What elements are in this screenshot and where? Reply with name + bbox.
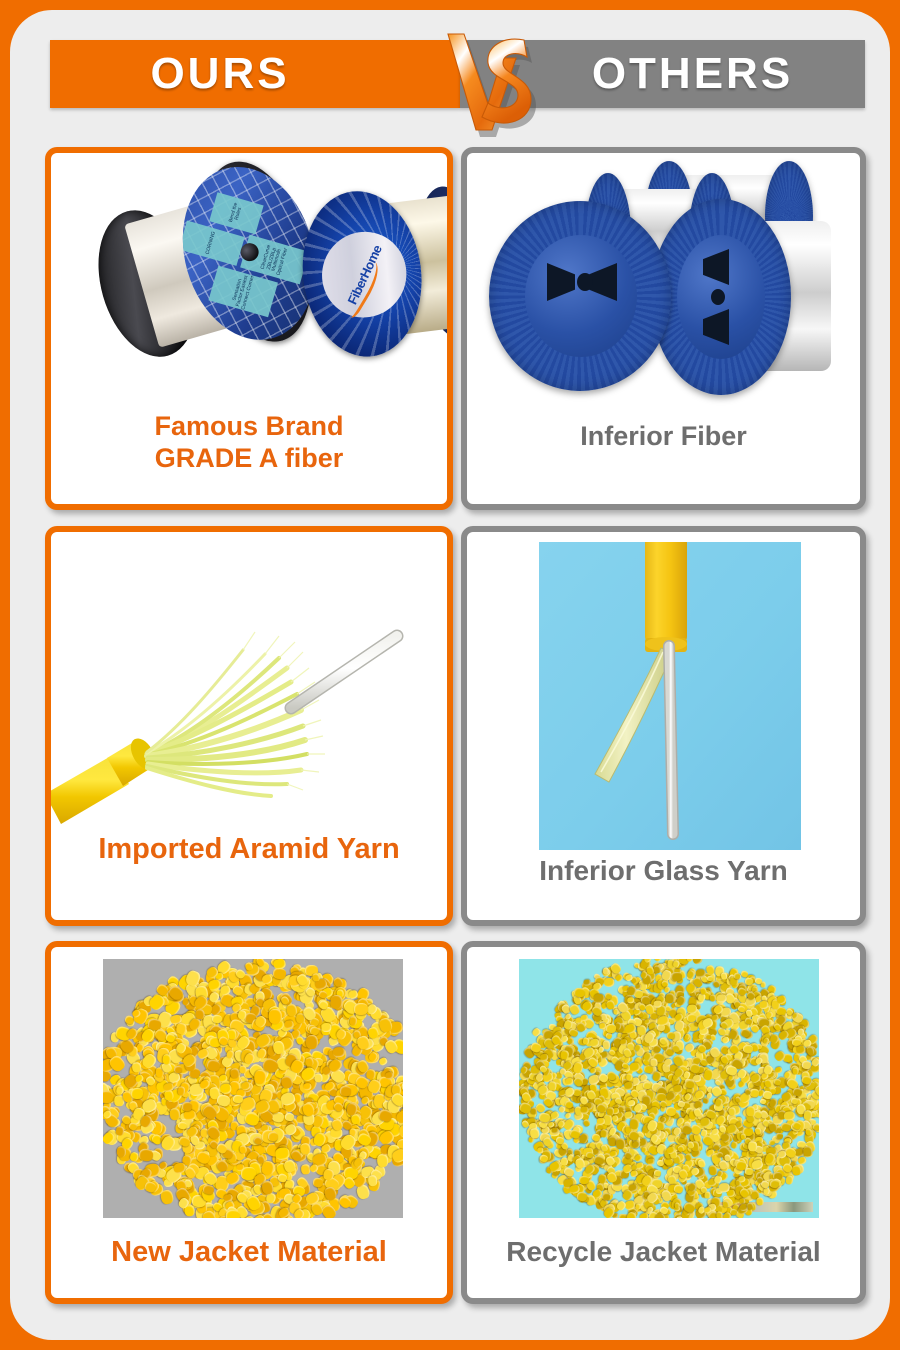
pellet — [686, 1005, 697, 1015]
pellet — [239, 1065, 247, 1074]
caption-ours-jacket: New Jacket Material — [51, 1235, 447, 1269]
pellet — [697, 1158, 706, 1167]
card-others-fiber[interactable]: Inferior Fiber — [461, 147, 866, 510]
pellet — [747, 1106, 756, 1116]
pellet — [743, 1044, 753, 1053]
pellet — [607, 1107, 614, 1115]
pellet — [286, 1003, 297, 1016]
ours-header-label: OURS — [50, 40, 460, 108]
pellet — [354, 1002, 369, 1015]
pellet — [784, 1110, 796, 1120]
others-jacket-image — [519, 959, 819, 1218]
pellet — [284, 1112, 294, 1121]
card-ours-fiber[interactable]: CORNING Bend the Rules Sensation Factor … — [45, 147, 453, 510]
pellet — [321, 1023, 332, 1032]
pellet — [580, 1107, 588, 1114]
pellet — [584, 979, 591, 985]
pellet — [606, 1023, 617, 1033]
pellet — [709, 994, 716, 1002]
pellet — [667, 1031, 675, 1038]
pellet — [537, 1148, 544, 1154]
caption-others-glassyarn: Inferior Glass Yarn — [467, 854, 860, 887]
pellet — [670, 972, 681, 981]
pellet — [708, 1165, 717, 1175]
pellet — [623, 1082, 633, 1090]
pellet — [603, 978, 614, 988]
blue-spool-left — [489, 201, 679, 391]
pellet — [674, 1202, 680, 1209]
pellet — [349, 1016, 357, 1025]
card-ours-jacket[interactable]: New Jacket Material — [45, 941, 453, 1304]
pellet — [582, 1118, 591, 1127]
pellet — [339, 1085, 351, 1096]
pellet — [728, 1108, 735, 1116]
pellet — [687, 1014, 696, 1022]
pellet — [795, 1046, 805, 1055]
pellet — [642, 1081, 651, 1089]
ours-aramid-image — [51, 532, 447, 842]
pellet — [654, 1001, 662, 1008]
comparison-header: OURS OTHERS — [50, 40, 865, 108]
pellet — [576, 1191, 587, 1201]
pellet — [376, 1154, 388, 1168]
pellet — [226, 1209, 241, 1218]
pellet — [696, 969, 706, 978]
others-glassyarn-image — [539, 542, 801, 850]
pellet — [593, 994, 604, 1004]
pellet — [629, 1062, 640, 1072]
pellet — [368, 1174, 378, 1186]
pellet — [717, 994, 727, 1003]
pellet — [634, 1202, 641, 1209]
pellet — [232, 1095, 242, 1104]
pellet — [745, 978, 753, 985]
pellet — [131, 1088, 144, 1099]
fiberhome-spool-graphic: FiberHome — [293, 177, 453, 366]
pellet — [759, 1001, 769, 1009]
pellet — [182, 1102, 192, 1111]
pellet — [665, 994, 674, 1005]
pellet — [585, 1152, 592, 1159]
caption-ours-fiber: Famous Brand GRADE A fiber — [51, 411, 447, 475]
pellet — [564, 1077, 574, 1086]
pellet — [754, 1126, 761, 1134]
pellet — [775, 1066, 783, 1074]
pellet — [552, 1128, 559, 1134]
pellet — [306, 1035, 318, 1049]
caption-others-jacket: Recycle Jacket Material — [467, 1235, 860, 1268]
pellet — [748, 1141, 757, 1151]
pellet — [650, 1058, 657, 1066]
pellet — [615, 1138, 625, 1149]
pellet — [131, 1061, 141, 1072]
pellet — [276, 1147, 291, 1160]
pellet — [744, 1167, 752, 1174]
ours-jacket-image — [103, 959, 403, 1218]
ours-fiber-image: CORNING Bend the Rules Sensation Factor … — [51, 153, 447, 403]
caption-line-2: GRADE A fiber — [51, 443, 447, 475]
caption-others-fiber: Inferior Fiber — [467, 421, 860, 453]
pellet — [212, 1014, 222, 1023]
caption-line-1: Famous Brand — [51, 411, 447, 443]
pellet — [538, 1112, 550, 1123]
card-ours-aramid[interactable]: Imported Aramid Yarn — [45, 526, 453, 926]
pellet — [793, 1067, 799, 1074]
pellet — [169, 1108, 180, 1120]
pellet — [312, 1177, 323, 1187]
pellet — [333, 1046, 345, 1057]
pellet — [673, 1184, 684, 1194]
corning-spool-graphic: CORNING Bend the Rules Sensation Factor … — [77, 150, 325, 384]
pellet — [733, 972, 740, 978]
pellet — [653, 1169, 661, 1176]
others-fiber-image — [467, 153, 860, 421]
pellet — [311, 972, 320, 982]
pellet — [756, 1197, 763, 1206]
card-others-glassyarn[interactable]: Inferior Glass Yarn — [461, 526, 866, 926]
pellet — [805, 1045, 814, 1055]
pellet — [619, 1039, 627, 1046]
pellet — [230, 1067, 240, 1078]
pellet — [269, 1009, 282, 1024]
others-header-label: OTHERS — [460, 40, 865, 108]
pellet — [716, 1211, 723, 1218]
pellet — [804, 1146, 813, 1156]
pellet — [184, 1109, 197, 1120]
pellet — [775, 1132, 782, 1138]
card-others-jacket[interactable]: Recycle Jacket Material — [461, 941, 866, 1304]
pellet — [103, 1090, 113, 1103]
pellet — [692, 959, 703, 965]
pellet — [532, 1107, 538, 1114]
pellet — [792, 1164, 802, 1175]
caption-ours-aramid: Imported Aramid Yarn — [51, 832, 447, 866]
